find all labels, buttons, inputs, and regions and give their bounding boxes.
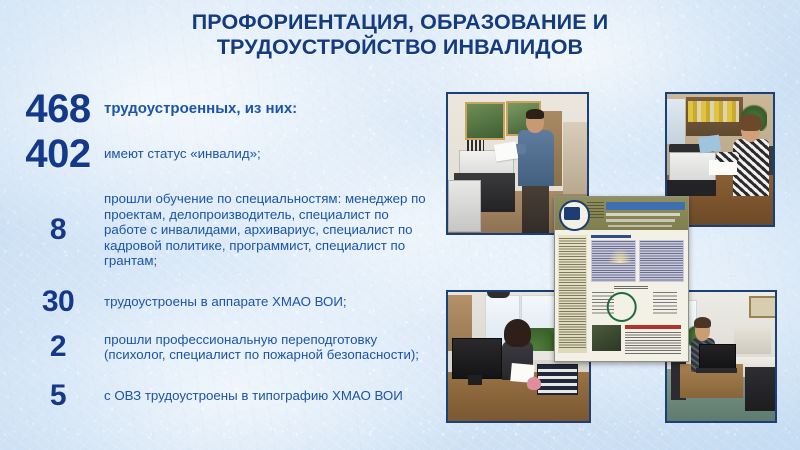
newspaper-page — [554, 196, 689, 362]
slide-root: ПРОФОРИЕНТАЦИЯ, ОБРАЗОВАНИЕ И ТРУДОУСТРО… — [0, 0, 800, 450]
photo-collage — [0, 0, 800, 450]
